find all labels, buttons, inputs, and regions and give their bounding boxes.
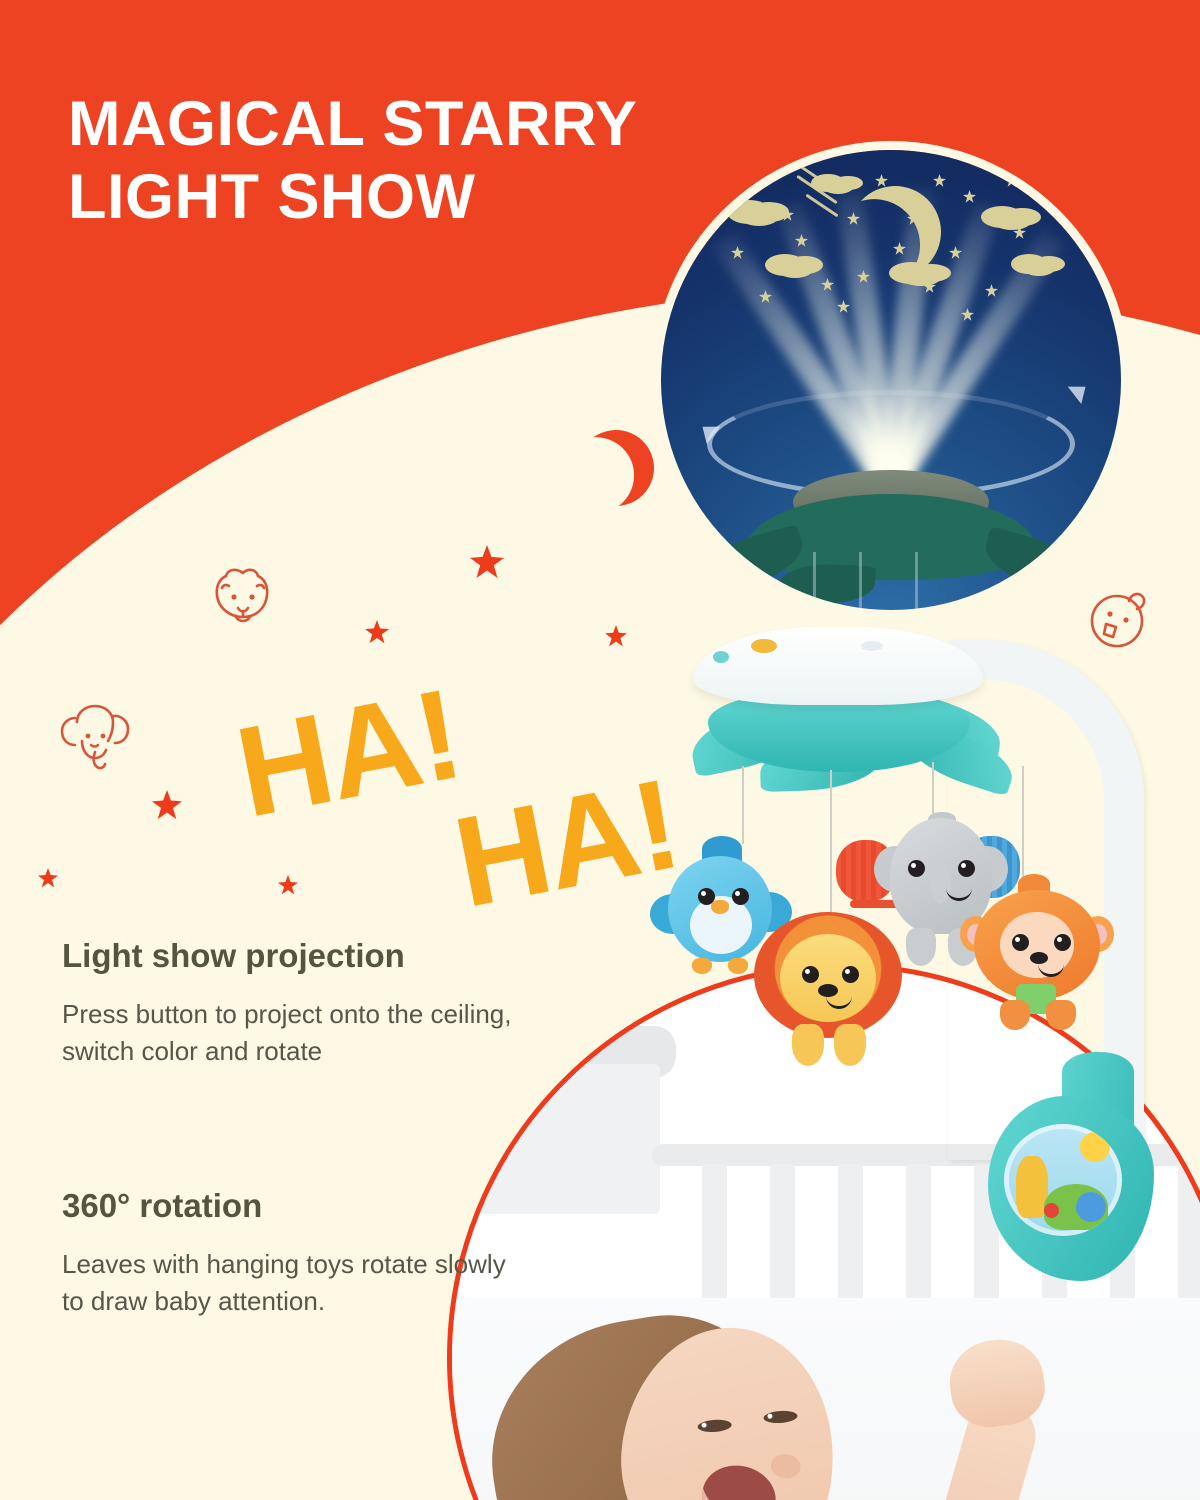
feature-body: Press button to project onto the ceiling… xyxy=(62,996,532,1071)
apple-sticker-icon xyxy=(1044,1203,1059,1218)
lion-face xyxy=(780,934,876,1022)
elephant-trunk xyxy=(930,860,951,904)
giraffe-scene-window xyxy=(1004,1124,1122,1236)
page-title: MAGICAL STARRY LIGHT SHOW xyxy=(68,88,688,234)
projected-cloud-icon xyxy=(727,200,771,224)
rotation-arrow-right-icon xyxy=(1068,378,1093,404)
feature-360-rotation: 360° rotation Leaves with hanging toys r… xyxy=(62,1186,532,1321)
blue-animal-sticker-icon xyxy=(1076,1192,1106,1222)
infographic-stage: MAGICAL STARRY LIGHT SHOW xyxy=(0,0,1200,1500)
volume-button[interactable] xyxy=(861,641,883,651)
elephant-face-doodle-icon xyxy=(55,700,135,772)
projected-cloud-icon xyxy=(811,174,845,192)
plush-monkey xyxy=(960,872,1114,1030)
projected-cloud-icon xyxy=(765,254,805,276)
projected-cloud-icon xyxy=(981,206,1023,228)
feature-title: 360° rotation xyxy=(62,1186,532,1226)
sun-sticker-icon xyxy=(1080,1132,1110,1162)
power-button[interactable] xyxy=(713,651,729,663)
projected-cloud-icon xyxy=(1011,254,1047,274)
feature-light-show-projection: Light show projection Press button to pr… xyxy=(62,936,532,1071)
projection-button[interactable] xyxy=(751,639,777,653)
projected-cloud-icon xyxy=(889,262,933,284)
lion-face-doodle-icon xyxy=(205,565,281,641)
feature-title: Light show projection xyxy=(62,936,532,976)
light-show-projection-inset xyxy=(661,150,1121,610)
feature-body: Leaves with hanging toys rotate slowly t… xyxy=(62,1246,532,1321)
bird-beak-icon xyxy=(711,900,729,914)
baby-chick-face-doodle-icon xyxy=(1085,583,1155,653)
